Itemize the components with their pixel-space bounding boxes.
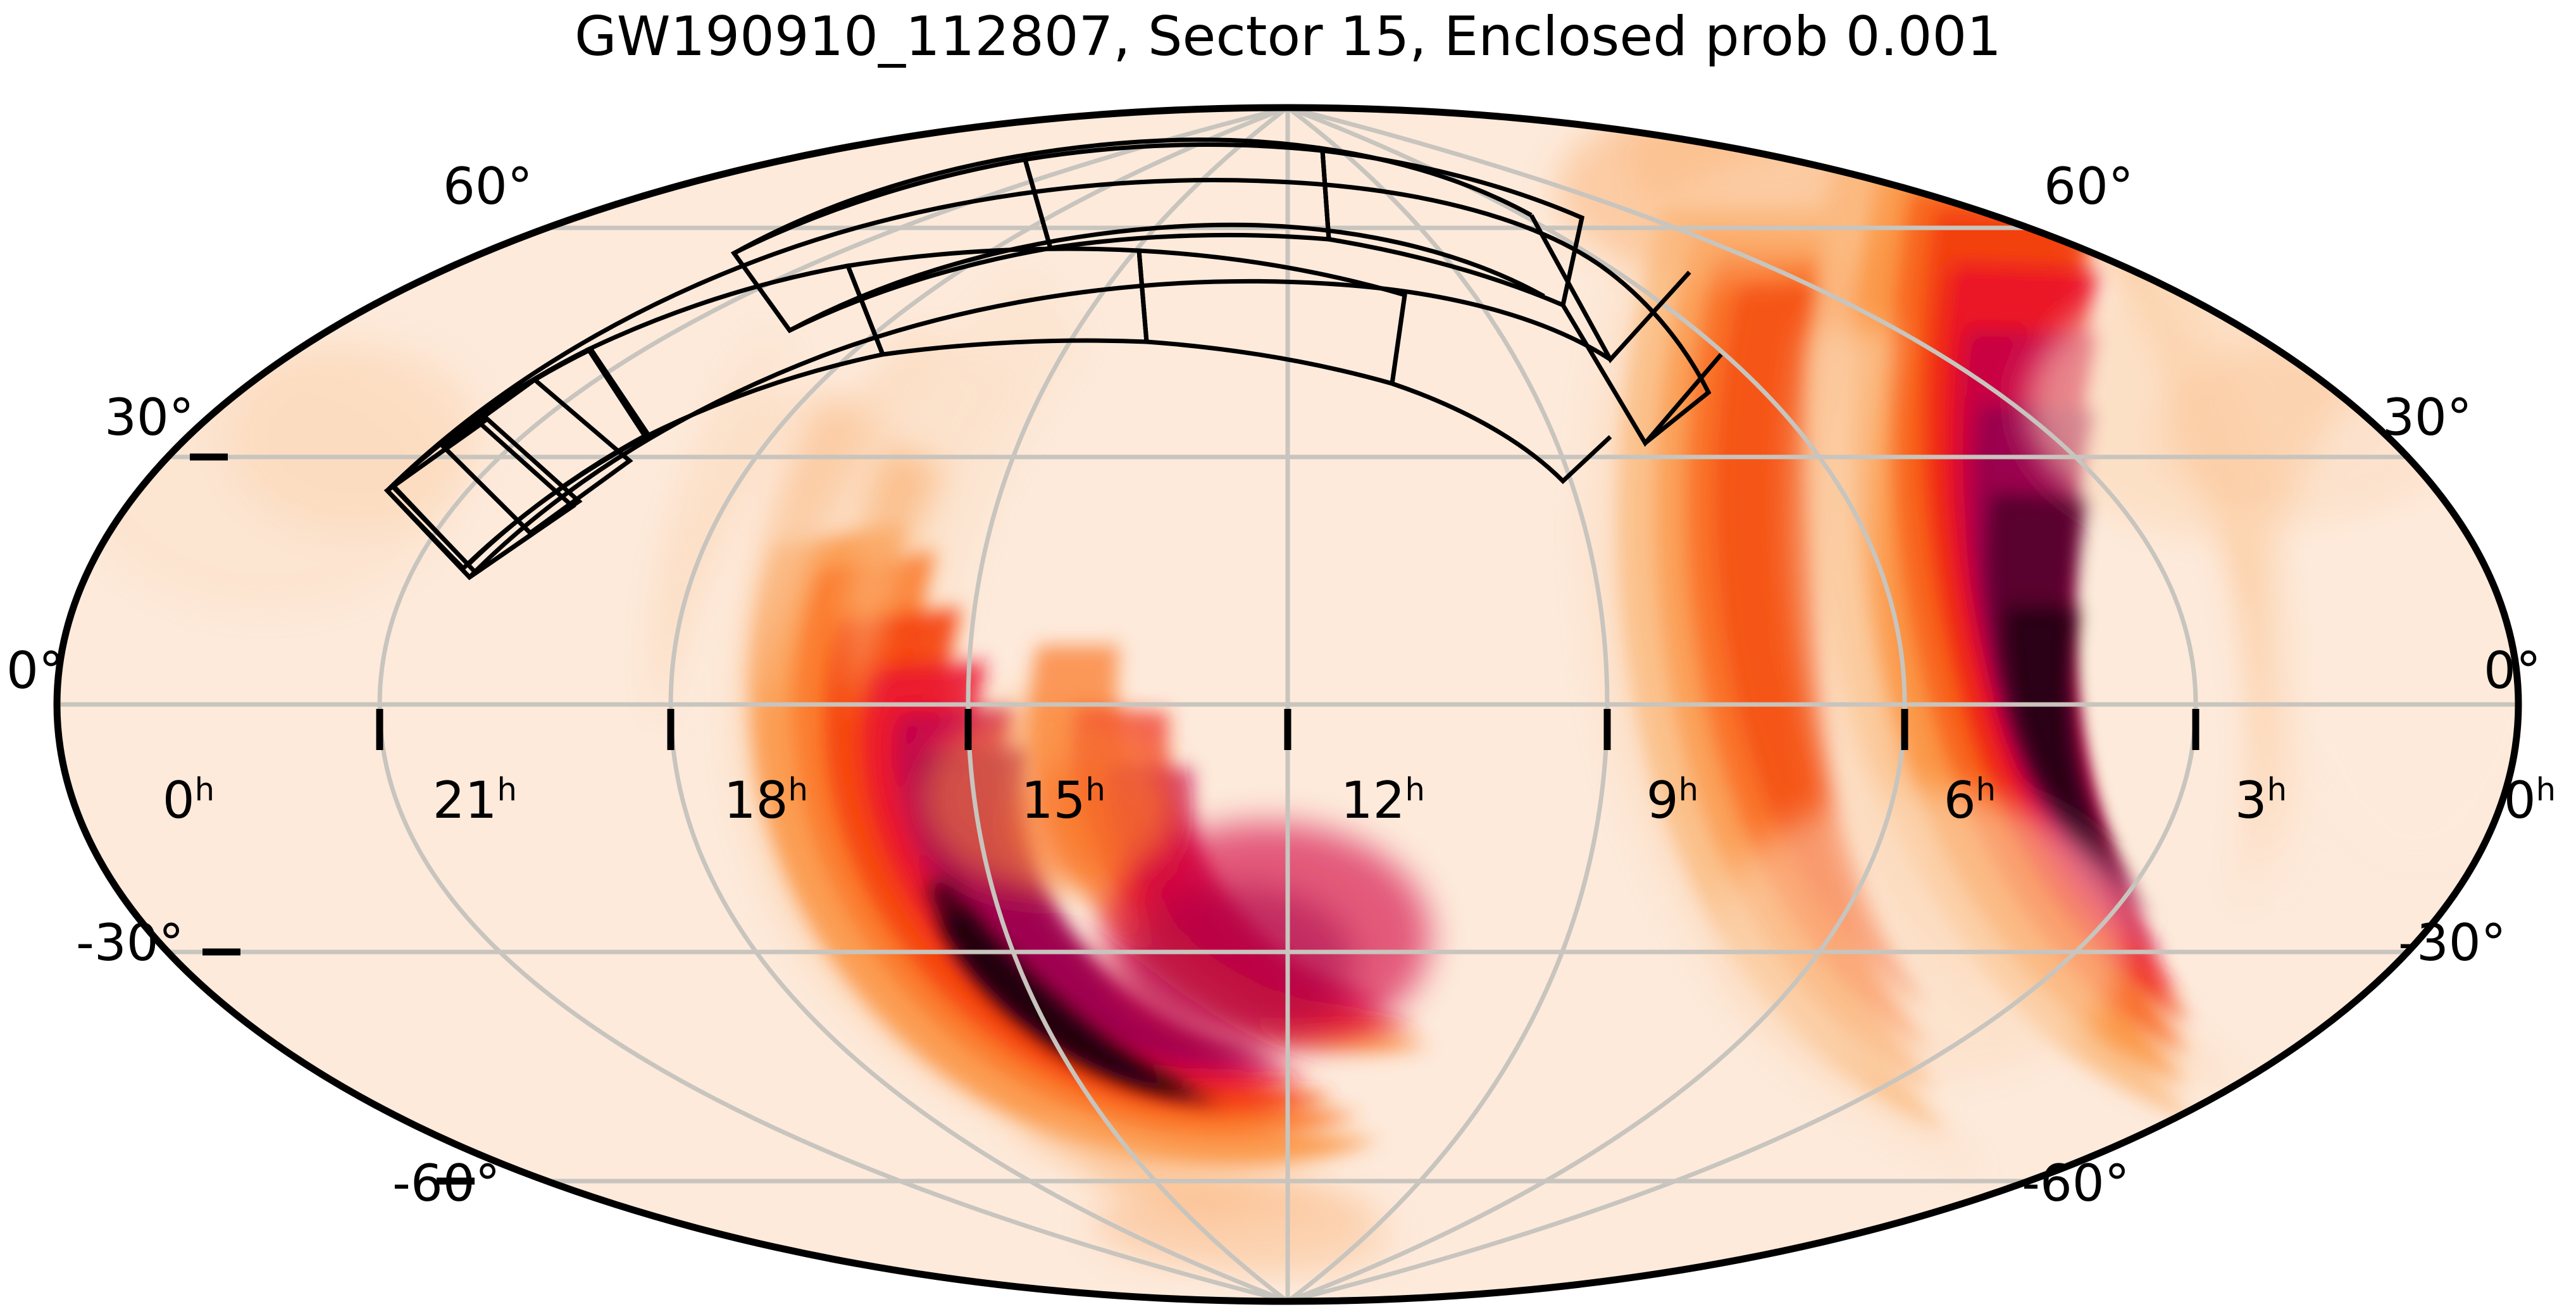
dec-label-left-m60: -60°: [392, 1158, 501, 1209]
dec-label-right-0: 0°: [2484, 646, 2541, 696]
ra-label-21h-num: 21: [433, 771, 497, 830]
ra-label-18h-num: 18: [724, 771, 788, 830]
ra-label-12h-unit: h: [1405, 771, 1425, 808]
ra-label-3h-unit: h: [2267, 771, 2287, 808]
ra-label-0h-left-num: 0: [163, 771, 195, 830]
mollweide-sky-map: [0, 0, 2576, 1314]
ra-label-18h: 18h: [659, 725, 808, 877]
ra-label-0h-right-unit: h: [2536, 771, 2556, 808]
ra-label-21h: 21h: [368, 725, 517, 877]
dec-label-right-m60: -60°: [2022, 1158, 2130, 1209]
ra-label-0h-right: 0h: [2439, 725, 2556, 877]
dec-label-left-30: 30°: [104, 392, 194, 443]
dec-label-left-60: 60°: [443, 161, 533, 212]
ra-label-3h-num: 3: [2235, 771, 2267, 830]
ra-label-9h: 9h: [1582, 725, 1698, 877]
ra-label-9h-unit: h: [1679, 771, 1698, 808]
ra-label-6h-unit: h: [1976, 771, 1996, 808]
ra-label-6h-num: 6: [1944, 771, 1976, 830]
ra-label-12h: 12h: [1276, 725, 1425, 877]
ra-label-9h-num: 9: [1646, 771, 1679, 830]
ra-label-12h-num: 12: [1341, 771, 1405, 830]
ra-label-15h-unit: h: [1086, 771, 1105, 808]
ra-label-3h: 3h: [2170, 725, 2287, 877]
dec-label-right-60: 60°: [2044, 161, 2134, 212]
dec-label-left-m30: -30°: [76, 918, 184, 968]
ra-label-15h-num: 15: [1021, 771, 1086, 830]
ra-label-21h-unit: h: [497, 771, 517, 808]
ra-label-0h-left: 0h: [98, 725, 215, 877]
ra-label-0h-left-unit: h: [195, 771, 215, 808]
ra-label-18h-unit: h: [788, 771, 808, 808]
ra-label-6h: 6h: [1879, 725, 1996, 877]
dec-label-left-0: 0°: [6, 646, 64, 696]
dec-label-right-m30: -30°: [2398, 918, 2506, 968]
dec-label-right-30: 30°: [2382, 392, 2472, 443]
ra-label-15h: 15h: [957, 725, 1105, 877]
ra-label-0h-right-num: 0: [2504, 771, 2536, 830]
sky-map-figure: GW190910_112807, Sector 15, Enclosed pro…: [0, 0, 2576, 1314]
